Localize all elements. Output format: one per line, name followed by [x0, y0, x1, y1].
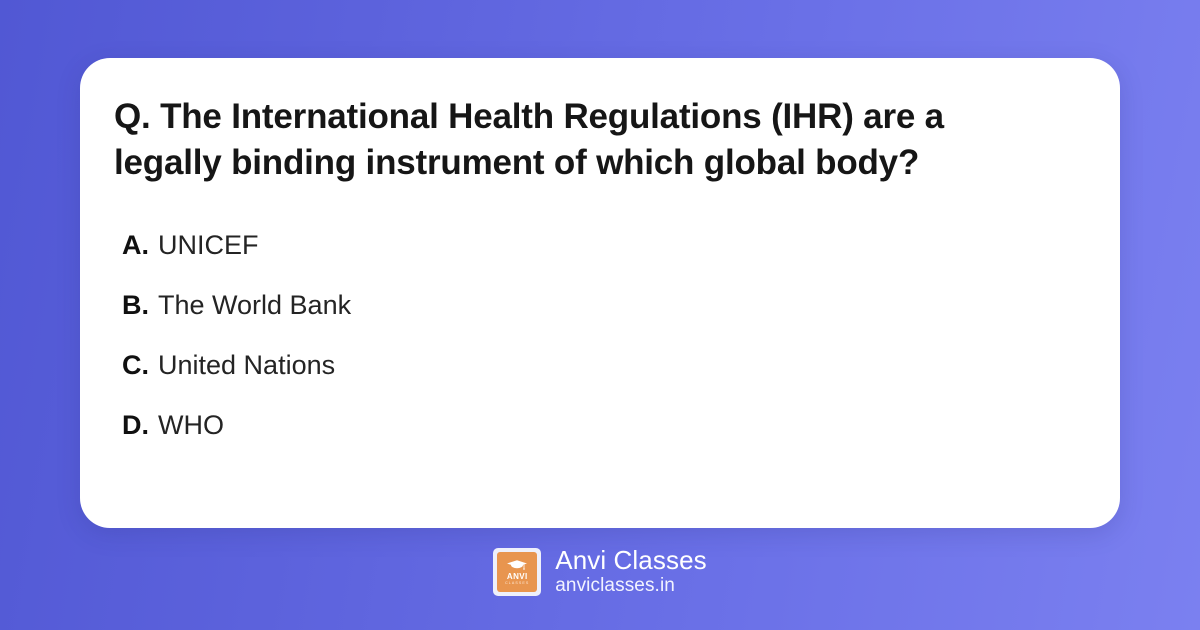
option-text-d: WHO — [158, 412, 224, 439]
option-letter-d: D. — [122, 412, 149, 439]
option-letter-b: B. — [122, 292, 149, 319]
footer-branding: ANVI CLASSES Anvi Classes anviclasses.in — [0, 546, 1200, 598]
option-text-c: United Nations — [158, 352, 335, 379]
option-letter-c: C. — [122, 352, 149, 379]
option-text-a: UNICEF — [158, 232, 259, 259]
options-list: A. UNICEF B. The World Bank C. United Na… — [112, 232, 1080, 472]
brand-title: Anvi Classes — [555, 546, 706, 575]
quiz-poster: Q. The International Health Regulations … — [0, 0, 1200, 630]
logo-sub: CLASSES — [505, 582, 529, 586]
graduation-cap-icon — [506, 559, 528, 572]
brand-url[interactable]: anviclasses.in — [555, 575, 706, 598]
option-text-b: The World Bank — [158, 292, 351, 319]
question-text: Q. The International Health Regulations … — [112, 94, 1062, 186]
option-row-c[interactable]: C. United Nations — [122, 352, 1080, 412]
option-row-d[interactable]: D. WHO — [122, 412, 1080, 472]
brand-logo: ANVI CLASSES — [493, 548, 541, 596]
logo-name: ANVI — [507, 573, 528, 581]
option-letter-a: A. — [122, 232, 149, 259]
question-card: Q. The International Health Regulations … — [80, 58, 1120, 528]
brand-text: Anvi Classes anviclasses.in — [555, 546, 706, 598]
option-row-a[interactable]: A. UNICEF — [122, 232, 1080, 292]
option-row-b[interactable]: B. The World Bank — [122, 292, 1080, 352]
logo-tile: ANVI CLASSES — [497, 552, 537, 592]
